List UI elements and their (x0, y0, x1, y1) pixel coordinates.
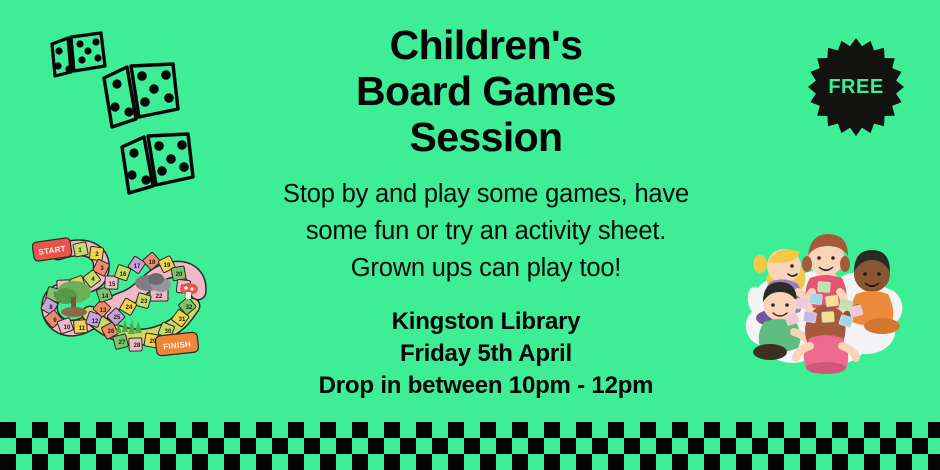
description-line-1: Stop by and play some games, have (210, 176, 762, 213)
svg-text:20: 20 (176, 272, 183, 278)
svg-text:10: 10 (64, 325, 71, 331)
svg-text:28: 28 (134, 343, 141, 349)
svg-text:11: 11 (79, 326, 86, 332)
event-venue: Kingston Library (210, 306, 762, 338)
poster-canvas: 12 34 56 78 910 1112 1314 1516 1718 1920… (0, 0, 940, 470)
dice-illustration (32, 18, 222, 200)
board-game-illustration: 12 34 56 78 910 1112 1314 1516 1718 1920… (30, 234, 222, 366)
svg-text:22: 22 (156, 294, 163, 300)
board-prop-tree (55, 281, 91, 317)
event-date: Friday 5th April (210, 338, 762, 370)
svg-text:25: 25 (114, 315, 121, 321)
svg-text:14: 14 (102, 294, 109, 300)
svg-text:12: 12 (92, 319, 99, 325)
children-illustration (722, 226, 930, 374)
board-finish-tile: FINISH (155, 332, 199, 356)
checker-row-1 (0, 422, 940, 438)
checkerboard-border (0, 422, 940, 470)
checker-row-2 (0, 438, 940, 454)
event-time: Drop in between 10pm - 12pm (210, 370, 762, 402)
description-line-3: Grown ups can play too! (210, 250, 762, 287)
event-details: Kingston Library Friday 5th April Drop i… (210, 306, 762, 402)
svg-text:16: 16 (120, 272, 127, 278)
free-badge: FREE (806, 36, 906, 136)
description-text: Stop by and play some games, have some f… (210, 176, 762, 287)
title-line-1: Children's (210, 22, 762, 68)
svg-text:24: 24 (126, 305, 133, 311)
page-title: Children's Board Games Session (210, 22, 762, 160)
svg-text:32: 32 (186, 305, 193, 311)
svg-text:31: 31 (179, 317, 186, 323)
svg-text:27: 27 (119, 340, 126, 346)
checker-row-3 (0, 454, 940, 470)
svg-text:13: 13 (100, 308, 107, 314)
description-line-2: some fun or try an activity sheet. (210, 213, 762, 250)
svg-text:26: 26 (108, 329, 115, 335)
svg-text:17: 17 (134, 264, 141, 270)
svg-text:18: 18 (149, 260, 156, 266)
svg-text:15: 15 (109, 282, 116, 288)
free-badge-label: FREE (828, 76, 883, 98)
svg-text:23: 23 (141, 299, 148, 305)
title-line-2: Board Games (210, 68, 762, 114)
title-line-3: Session (210, 114, 762, 160)
svg-text:19: 19 (164, 263, 171, 269)
poster-text-block: Children's Board Games Session Stop by a… (210, 22, 762, 402)
